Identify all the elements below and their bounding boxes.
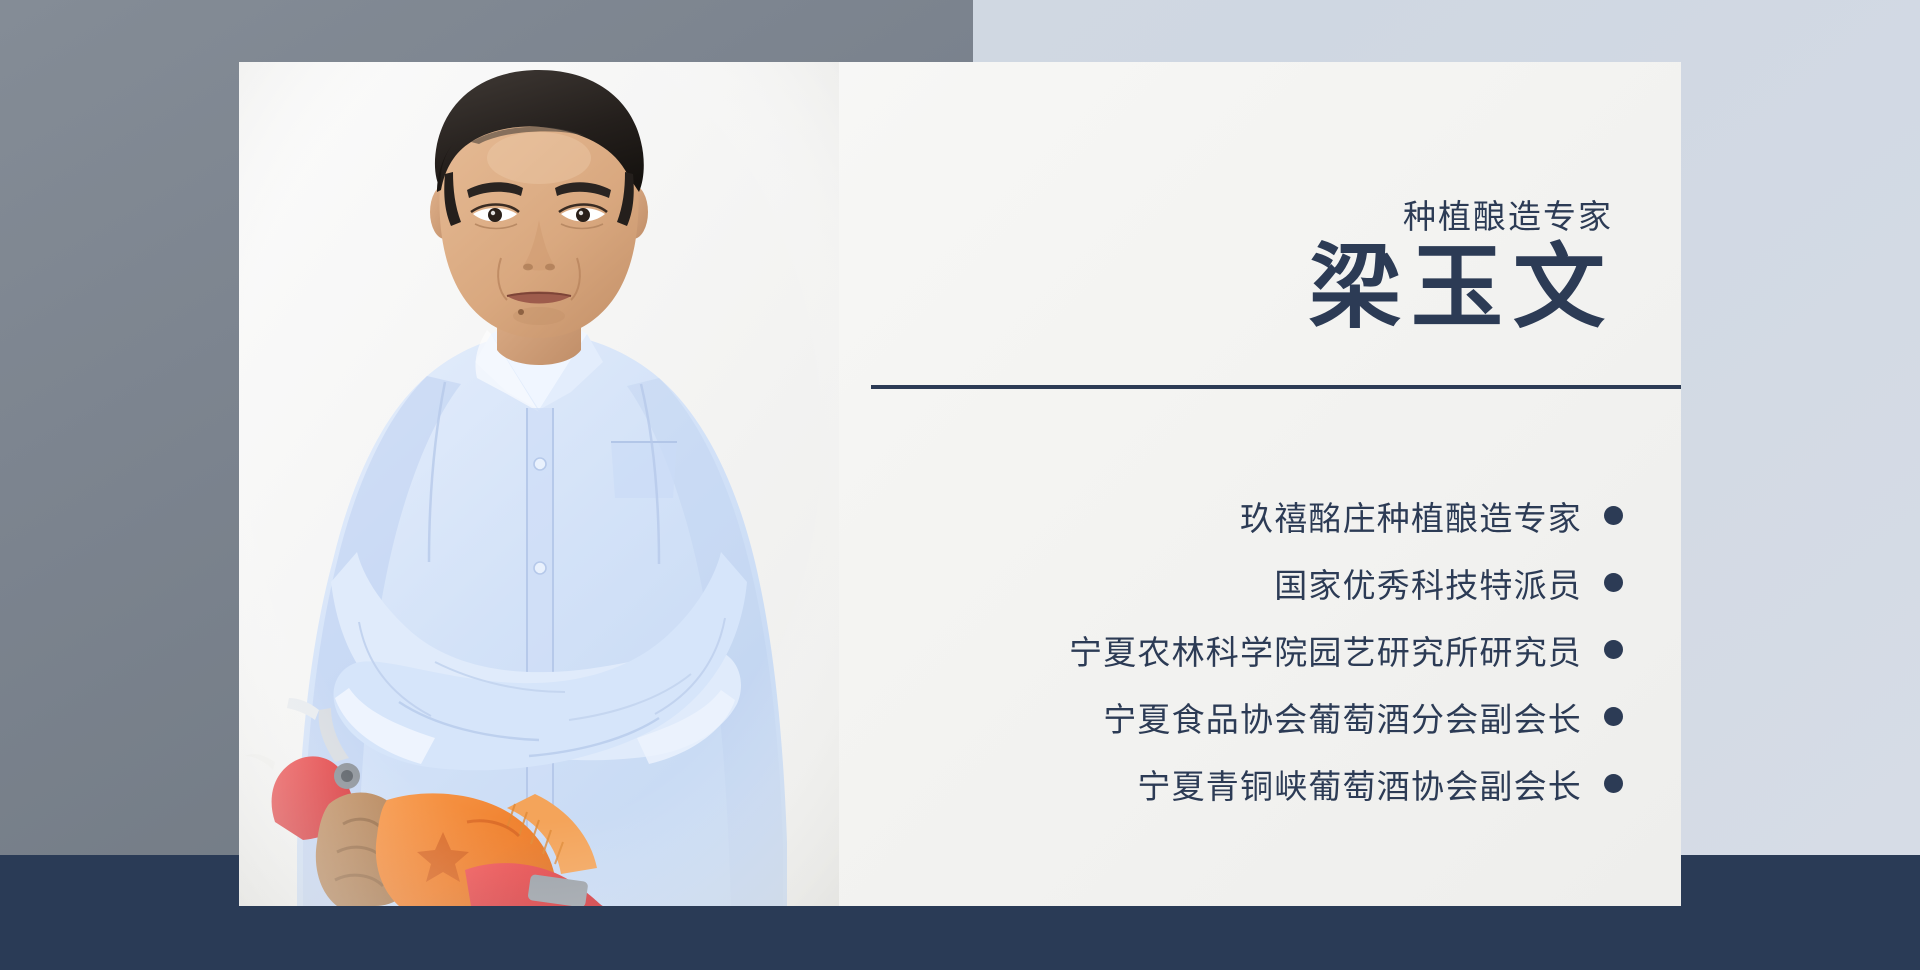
poster-stage: 种植酿造专家 梁玉文 玖禧酩庄种植酿造专家 国家优秀科技特派员 宁夏农林科学院园…: [0, 0, 1920, 970]
credential-label: 宁夏青铜峡葡萄酒协会副会长: [1137, 760, 1582, 808]
list-item: 宁夏食品协会葡萄酒分会副会长: [883, 683, 1623, 750]
credential-label: 宁夏食品协会葡萄酒分会副会长: [1103, 693, 1582, 741]
credential-label: 国家优秀科技特派员: [1274, 559, 1582, 607]
portrait-photo: [239, 62, 839, 906]
bullet-dot-icon: [1604, 640, 1623, 659]
list-item: 宁夏农林科学院园艺研究所研究员: [883, 616, 1623, 683]
credential-label: 宁夏农林科学院园艺研究所研究员: [1069, 626, 1582, 674]
credentials-list: 玖禧酩庄种植酿造专家 国家优秀科技特派员 宁夏农林科学院园艺研究所研究员 宁夏食…: [883, 482, 1623, 817]
credential-label: 玖禧酩庄种植酿造专家: [1240, 492, 1582, 540]
profile-subtitle: 种植酿造专家: [1403, 190, 1613, 238]
bullet-dot-icon: [1604, 573, 1623, 592]
bullet-dot-icon: [1604, 774, 1623, 793]
list-item: 国家优秀科技特派员: [883, 549, 1623, 616]
section-divider: [871, 385, 1681, 389]
page-title: 梁玉文: [1309, 242, 1615, 334]
bullet-dot-icon: [1604, 506, 1623, 525]
list-item: 玖禧酩庄种植酿造专家: [883, 482, 1623, 549]
bullet-dot-icon: [1604, 707, 1623, 726]
profile-card: 种植酿造专家 梁玉文 玖禧酩庄种植酿造专家 国家优秀科技特派员 宁夏农林科学院园…: [239, 62, 1681, 906]
list-item: 宁夏青铜峡葡萄酒协会副会长: [883, 750, 1623, 817]
